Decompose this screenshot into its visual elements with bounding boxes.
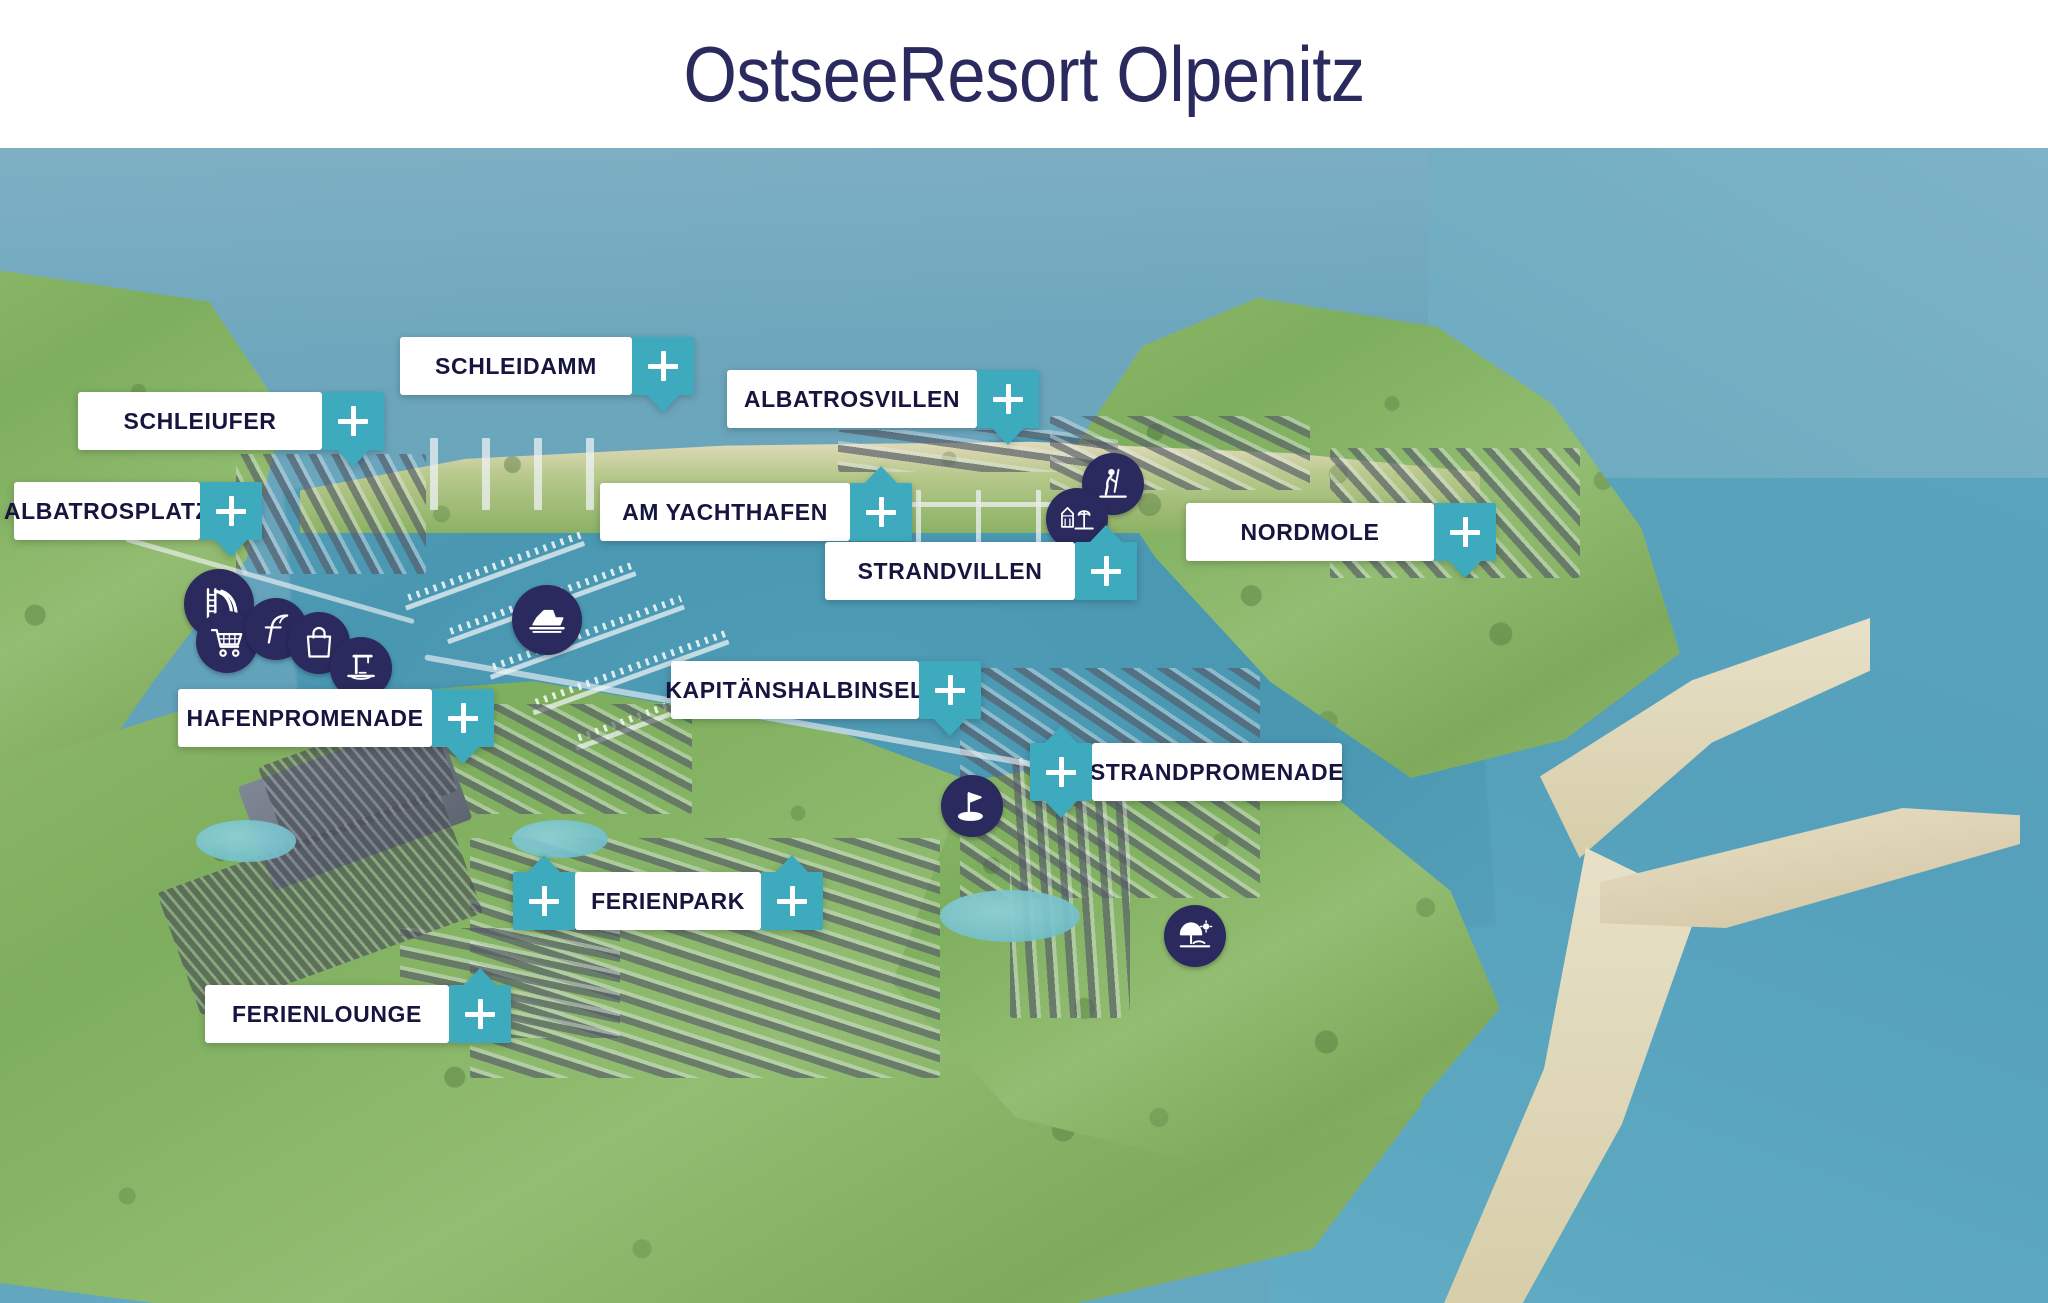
hotspot-plus-button[interactable] — [322, 392, 384, 450]
hotspot-plus-button[interactable] — [1030, 743, 1092, 801]
plus-icon — [993, 384, 1023, 414]
plus-icon — [935, 675, 965, 705]
hotspot-label: ALBATROSVILLEN — [727, 370, 977, 428]
hotspot-nordmole[interactable]: NORDMOLE — [1186, 503, 1496, 561]
plus-icon — [216, 496, 246, 526]
plus-icon — [1091, 556, 1121, 586]
hotspot-plus-button[interactable] — [1075, 542, 1137, 600]
plus-icon — [465, 999, 495, 1029]
hotspot-label: STRANDPROMENADE — [1092, 743, 1342, 801]
hotspot-label: SCHLEIDAMM — [400, 337, 632, 395]
hotspot-ferienlounge[interactable]: FERIENLOUNGE — [205, 985, 511, 1043]
hotspot-schleiufer[interactable]: SCHLEIUFER — [78, 392, 384, 450]
plus-icon — [529, 886, 559, 916]
hotspot-strandpromenade[interactable]: STRANDPROMENADE — [1030, 743, 1342, 801]
hotspot-plus-button[interactable] — [1434, 503, 1496, 561]
hotspot-plus-button-right[interactable] — [761, 872, 823, 930]
plus-icon — [448, 703, 478, 733]
beach-umbrella-icon[interactable] — [1164, 905, 1226, 967]
hotspot-plus-button[interactable] — [449, 985, 511, 1043]
plus-icon — [866, 497, 896, 527]
hotspot-plus-button[interactable] — [632, 337, 694, 395]
plus-icon — [1450, 517, 1480, 547]
page-header: OstseeResort Olpenitz — [0, 0, 2048, 148]
hotspot-label: SCHLEIUFER — [78, 392, 322, 450]
hotspot-label: FERIENLOUNGE — [205, 985, 449, 1043]
golf-flag-icon[interactable] — [941, 775, 1003, 837]
hotspot-albatrosvillen[interactable]: ALBATROSVILLEN — [727, 370, 1039, 428]
plus-icon — [777, 886, 807, 916]
hotspot-plus-button[interactable] — [977, 370, 1039, 428]
buildings-schleiufer — [236, 454, 426, 574]
hotspot-label: KAPITÄNSHALBINSEL — [671, 661, 919, 719]
hotspot-plus-button-left[interactable] — [513, 872, 575, 930]
pond-east — [940, 890, 1080, 942]
hotspot-schleidamm[interactable]: SCHLEIDAMM — [400, 337, 694, 395]
hotspot-label: HAFENPROMENADE — [178, 689, 432, 747]
page-title: OstseeResort Olpenitz — [683, 29, 1364, 120]
hotspot-plus-button[interactable] — [850, 483, 912, 541]
hotspot-label: NORDMOLE — [1186, 503, 1434, 561]
hotspot-strandvillen[interactable]: STRANDVILLEN — [825, 542, 1137, 600]
pond-centre — [512, 820, 608, 858]
plus-icon — [1046, 757, 1076, 787]
hotspot-hafenpromenade[interactable]: HAFENPROMENADE — [178, 689, 494, 747]
plus-icon — [648, 351, 678, 381]
motorboat-icon[interactable] — [512, 585, 582, 655]
hotspot-albatrosplatz[interactable]: ALBATROSPLATZ — [14, 482, 262, 540]
plus-icon — [338, 406, 368, 436]
hotspot-label: ALBATROSPLATZ — [14, 482, 200, 540]
hotspot-kapitaenshalbinsel[interactable]: KAPITÄNSHALBINSEL — [671, 661, 981, 719]
hotspot-plus-button[interactable] — [200, 482, 262, 540]
hotspot-plus-button[interactable] — [919, 661, 981, 719]
resort-map[interactable]: SCHLEIDAMM SCHLEIUFER ALBATROSVILLEN ALB… — [0, 148, 2048, 1303]
hotspot-plus-button[interactable] — [432, 689, 494, 747]
pond-west — [196, 820, 296, 862]
hotspot-label: AM YACHTHAFEN — [600, 483, 850, 541]
hotspot-am-yachthafen[interactable]: AM YACHTHAFEN — [600, 483, 912, 541]
hotspot-label: FERIENPARK — [575, 872, 761, 930]
hotspot-ferienpark[interactable]: FERIENPARK — [513, 872, 823, 930]
hotspot-label: STRANDVILLEN — [825, 542, 1075, 600]
